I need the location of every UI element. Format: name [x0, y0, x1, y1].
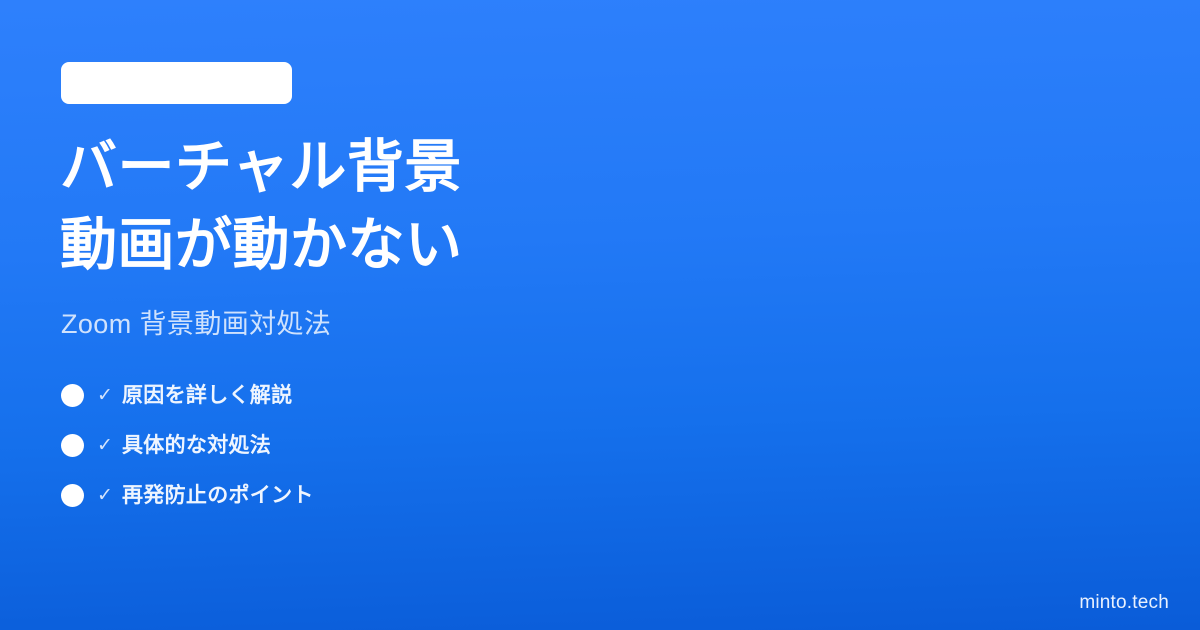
list-item-label: 再発防止のポイント [122, 485, 314, 506]
feature-list: ✓ 原因を詳しく解説 ✓ 具体的な対処法 ✓ 再発防止のポイント [61, 381, 314, 510]
list-item: ✓ 原因を詳しく解説 [61, 381, 314, 410]
check-icon: ✓ [97, 386, 113, 405]
list-item-label: 具体的な対処法 [122, 435, 271, 456]
page-title-line-1: バーチャル背景 [60, 128, 463, 206]
list-item: ✓ 具体的な対処法 [61, 431, 314, 460]
bullet-dot-icon [61, 434, 84, 457]
page-subtitle: Zoom 背景動画対処法 [61, 307, 331, 342]
site-watermark: minto.tech [1079, 593, 1169, 612]
check-icon: ✓ [97, 436, 113, 455]
bullet-dot-icon [61, 484, 84, 507]
bullet-dot-icon [61, 384, 84, 407]
og-image-card: バーチャル背景 動画が動かない Zoom 背景動画対処法 ✓ 原因を詳しく解説 … [0, 0, 1200, 630]
page-title-line-2: 動画が動かない [60, 206, 463, 284]
page-title: バーチャル背景 動画が動かない [60, 128, 463, 284]
check-icon: ✓ [97, 486, 113, 505]
list-item-label: 原因を詳しく解説 [122, 385, 292, 406]
category-badge [61, 62, 292, 104]
list-item: ✓ 再発防止のポイント [61, 481, 314, 510]
